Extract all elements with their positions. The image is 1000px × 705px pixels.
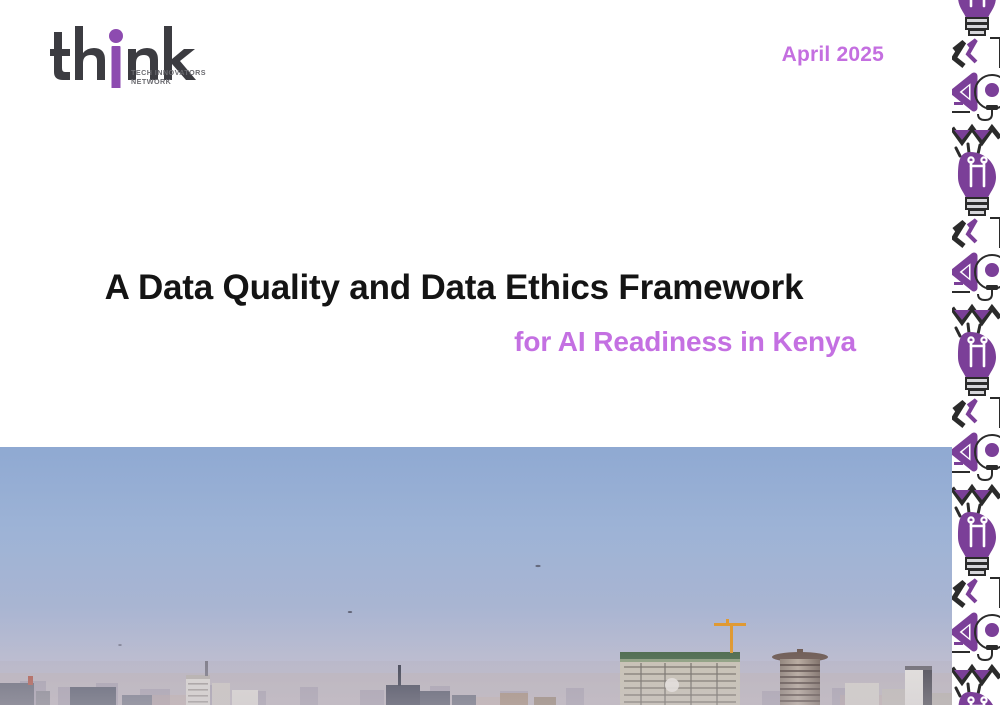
decorative-sidebar xyxy=(952,0,1000,705)
title-block: A Data Quality and Data Ethics Framework… xyxy=(0,268,908,358)
innovation-icon-pattern xyxy=(952,0,1000,705)
logo-tagline-line2: NETWORK xyxy=(131,77,172,86)
think-logo-icon: TECH INNOVATORS NETWORK xyxy=(50,22,230,88)
logo-tagline-line1: TECH INNOVATORS xyxy=(131,68,206,77)
skyline-illustration xyxy=(0,447,952,705)
publication-date: April 2025 xyxy=(782,43,884,67)
cover-content-area: TECH INNOVATORS NETWORK April 2025 A Dat… xyxy=(0,0,952,705)
city-skyline-photo xyxy=(0,447,952,705)
think-logo[interactable]: TECH INNOVATORS NETWORK xyxy=(50,22,230,88)
page-title: A Data Quality and Data Ethics Framework xyxy=(0,268,908,307)
page-subtitle: for AI Readiness in Kenya xyxy=(0,326,908,358)
report-cover-page: TECH INNOVATORS NETWORK April 2025 A Dat… xyxy=(0,0,1000,705)
